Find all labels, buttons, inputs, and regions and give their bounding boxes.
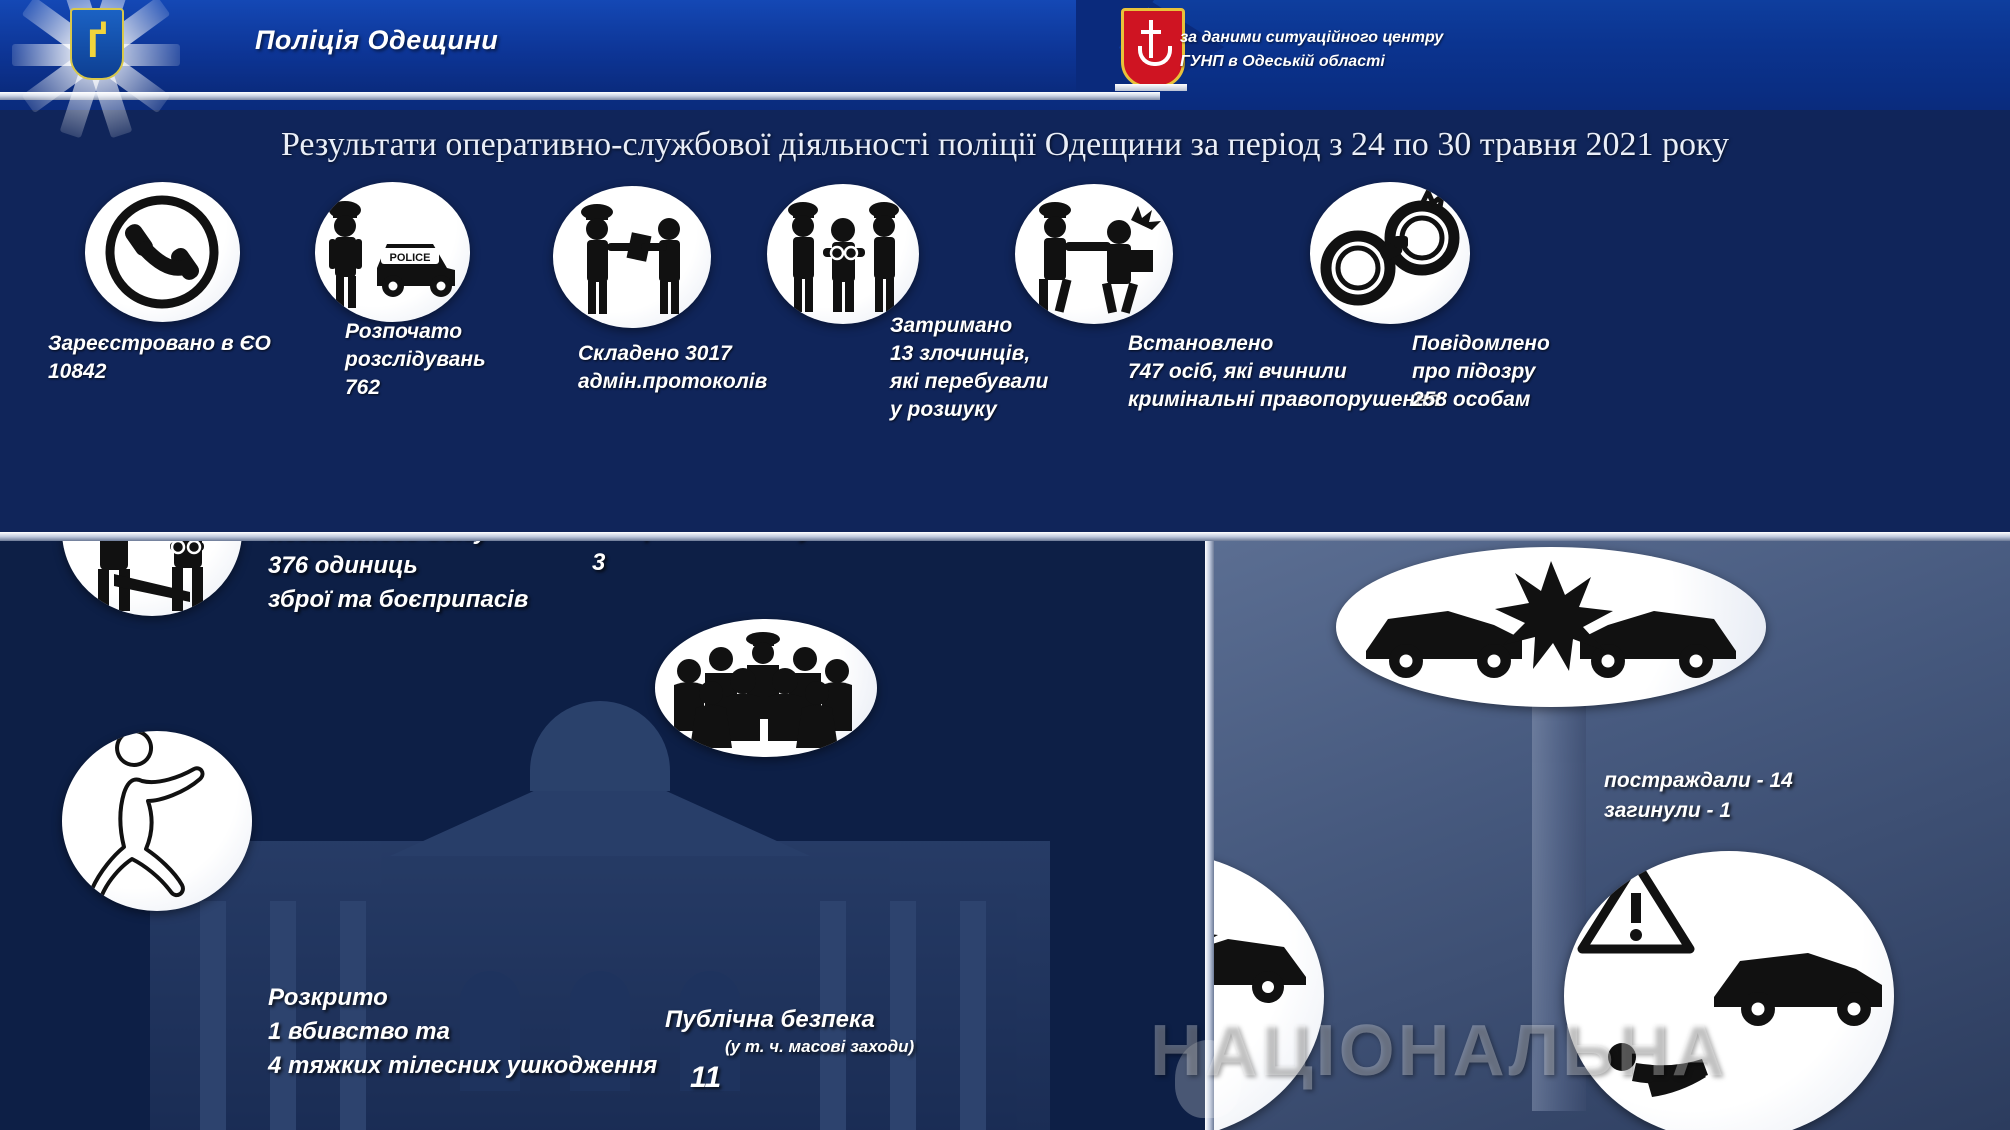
ukraine-police-star-emblem: Ґ: [8, 0, 184, 124]
stat-icon-arrested-person-escort-icon: [767, 184, 919, 324]
source-line-2: ГУНП в Одеській області: [1180, 50, 1443, 74]
stat-label-protocols: Складено 3017 адмін.протоколів: [578, 340, 878, 396]
source-credit: за даними ситуаційного центру ГУНП в Оде…: [1180, 26, 1443, 74]
left-value-public-safety: 11: [690, 1061, 721, 1095]
right-icon-car-crash-icon: [1336, 547, 1766, 707]
page-title: Результати оперативно-службової діяльнос…: [0, 126, 2010, 164]
page-header: Ґ Поліція Одещини за даними ситуаційного…: [0, 0, 2010, 110]
left-icon-crowd-of-people-icon: [655, 619, 877, 757]
left-icon-weapon-seizure-icon: [62, 541, 242, 616]
stat-icon-officer-catching-thief-icon: [1015, 184, 1173, 324]
stat-label-investigations: Розпочато розслідувань 762: [345, 318, 605, 402]
tryzub-glyph: Ґ: [87, 24, 106, 64]
right-label-casualties: постраждали - 14 загинули - 1: [1604, 766, 1924, 826]
watermark-text: НАЦІОНАЛЬНА: [1150, 1010, 1727, 1092]
stat-icon-phone-handset-icon: [85, 182, 240, 322]
org-title: Поліція Одещини: [255, 25, 498, 56]
odesa-coat-of-arms: [1115, 6, 1187, 92]
stat-label-suspicion: Повідомлено про підозру 258 особам: [1412, 330, 1712, 414]
svg-text:POLICE: POLICE: [390, 252, 431, 264]
left-panel: Вилучено з незаконного обігу 376 одиниць…: [0, 541, 1205, 1130]
left-icon-chalk-outline-body-icon: [62, 731, 252, 911]
stat-icon-handcuffs-icon: [1310, 182, 1470, 324]
infographic-page: Ґ Поліція Одещини за даними ситуаційного…: [0, 0, 2010, 1130]
left-label-explosives: Події із залученням спеціалістів-вибухот…: [592, 541, 1112, 580]
stat-label-registered: Зареєстровано в ЄО 10842: [48, 330, 348, 386]
tryzub-shield-icon: Ґ: [70, 8, 124, 80]
right-label-victim-cases: Випадки ДТП з потерпілими 10: [1214, 761, 1314, 851]
source-line-1: за даними ситуаційного центру: [1180, 26, 1443, 50]
horizontal-divider: [0, 532, 2010, 541]
left-label-public-safety-note: (у т. ч. масові заходи): [725, 1035, 914, 1059]
left-label-public-safety: Публічна безпека: [665, 1003, 875, 1037]
stat-icon-officer-issuing-protocol-icon: [553, 186, 711, 328]
stat-icon-police-officer-car-icon: POLICE: [315, 182, 470, 322]
